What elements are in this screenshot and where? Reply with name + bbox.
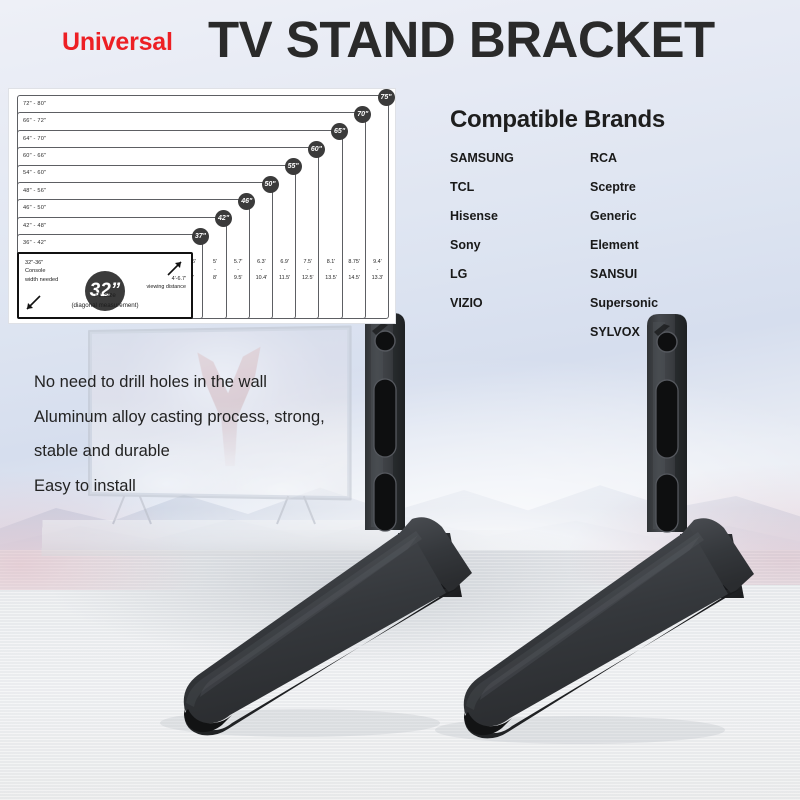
brand-item-samsung: SAMSUNG — [450, 151, 590, 165]
brands-columns: SAMSUNGTCLHisenseSonyLGVIZIO RCASceptreG… — [450, 151, 790, 354]
feature-line-3: stable and durable — [34, 443, 394, 460]
brand-item-element: Element — [590, 238, 658, 252]
brand-column-left: SAMSUNGTCLHisenseSonyLGVIZIO — [450, 151, 590, 354]
brands-title: Compatible Brands — [450, 106, 790, 134]
brand-item-sansui: SANSUI — [590, 267, 658, 281]
size-chart-range-label: 42" - 48" — [23, 223, 46, 229]
brand-item-sylvox: SYLVOX — [590, 325, 658, 339]
size-chart-viewing-distance: 7.5' - 12.5' — [296, 259, 319, 282]
size-chart-range-label: 64" - 70" — [23, 136, 46, 142]
size-chart-range-label: 72" - 80" — [23, 101, 46, 107]
feature-line-4: Easy to install — [34, 478, 394, 495]
size-chart-range-label: 48" - 56" — [23, 188, 46, 194]
eyebrow-label: Universal — [62, 28, 173, 57]
brand-item-rca: RCA — [590, 151, 658, 165]
console-width-note: 32"-36" Console width needed — [25, 259, 58, 285]
chart-inner: 72" - 80"75"9.4' - 13.3'66" - 72"70"8.75… — [17, 95, 387, 317]
page-title: TV STAND BRACKET — [208, 10, 715, 69]
size-chart-size-badge: 75" — [378, 89, 395, 106]
brand-column-right: RCASceptreGenericElementSANSUISupersonic… — [590, 151, 658, 354]
size-chart-viewing-distance: 8.1' - 13.5' — [319, 259, 342, 282]
size-chart-range-label: 36" - 42" — [23, 240, 46, 246]
size-chart-viewing-distance: 5.7' - 9.5' — [227, 259, 250, 282]
size-chart-size-badge: 60" — [308, 141, 325, 158]
tv-stand-bracket-right — [420, 300, 760, 750]
brand-item-lg: LG — [450, 267, 590, 281]
brand-item-vizio: VIZIO — [450, 296, 590, 310]
size-chart-viewing-distance: 6.9' - 11.5' — [273, 259, 296, 282]
tv-size-chart: 72" - 80"75"9.4' - 13.3'66" - 72"70"8.75… — [8, 88, 396, 324]
size-chart-range-label: 54" - 60" — [23, 170, 46, 176]
size-chart-range-label: 66" - 72" — [23, 118, 46, 124]
size-chart-viewing-distance: 5' - 8' — [203, 259, 226, 282]
tv-size-caption: TV Size(diagonal measurement) — [19, 291, 191, 310]
size-chart-viewing-distance: 8.75' - 14.5' — [343, 259, 366, 282]
feature-line-1: No need to drill holes in the wall — [34, 374, 394, 391]
feature-list: No need to drill holes in the wallAlumin… — [34, 374, 394, 512]
page-header: Universal TV STAND BRACKET — [0, 14, 800, 76]
brand-item-supersonic: Supersonic — [590, 296, 658, 310]
size-chart-size-badge: 50" — [262, 176, 279, 193]
main-viewing-distance-label: viewing distance — [146, 283, 186, 291]
size-chart-range-label: 46" - 50" — [23, 205, 46, 211]
brand-item-sceptre: Sceptre — [590, 180, 658, 194]
size-chart-size-badge: 55" — [285, 158, 302, 175]
compatible-brands-section: Compatible Brands SAMSUNGTCLHisenseSonyL… — [450, 106, 790, 354]
size-chart-main-box: 32"-36" Console width needed32”TV Size(d… — [17, 252, 193, 319]
size-chart-viewing-distance: 9.4' - 13.3' — [366, 259, 389, 282]
diagonal-arrow-lower-left — [23, 293, 43, 313]
brand-item-hisense: Hisense — [450, 209, 590, 223]
bracket-leg-right — [464, 518, 754, 738]
feature-line-2: Aluminum alloy casting process, strong, — [34, 409, 394, 426]
size-chart-viewing-distance: 6.3' - 10.4' — [250, 259, 273, 282]
diagonal-arrow-upper-right — [165, 258, 185, 278]
brand-item-sony: Sony — [450, 238, 590, 252]
size-chart-range-label: 60" - 66" — [23, 153, 46, 159]
brand-item-tcl: TCL — [450, 180, 590, 194]
tv-size-caption-line2: (diagonal measurement) — [19, 301, 191, 310]
brand-item-generic: Generic — [590, 209, 658, 223]
size-chart-size-badge: 37" — [192, 228, 209, 245]
tv-size-caption-line1: TV Size — [19, 291, 191, 300]
